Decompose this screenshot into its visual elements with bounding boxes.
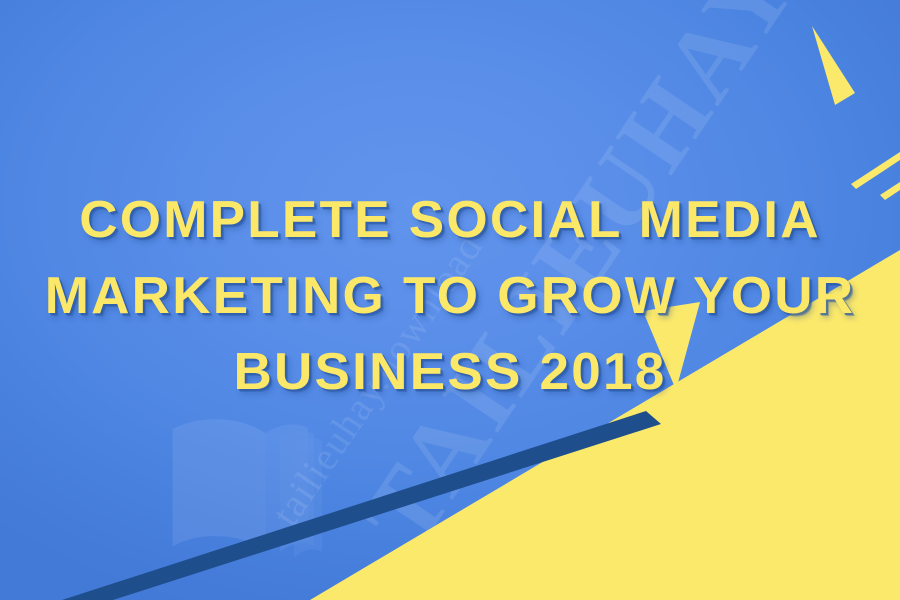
navy-diagonal-bar [62, 411, 661, 600]
stacked-book-pages-logo-icon [168, 408, 358, 583]
headline-line-3: BUSINESS 2018 [0, 334, 900, 410]
social-media-marketing-banner: TAILIEUHAY tailieuhay.download COMPLETE … [0, 0, 900, 600]
yellow-triangle-top-right [812, 26, 855, 105]
headline-line-2: MARKETING TO GROW YOUR [0, 258, 900, 334]
headline-line-1: COMPLETE SOCIAL MEDIA [0, 182, 900, 258]
headline-block: COMPLETE SOCIAL MEDIA MARKETING TO GROW … [0, 182, 900, 410]
